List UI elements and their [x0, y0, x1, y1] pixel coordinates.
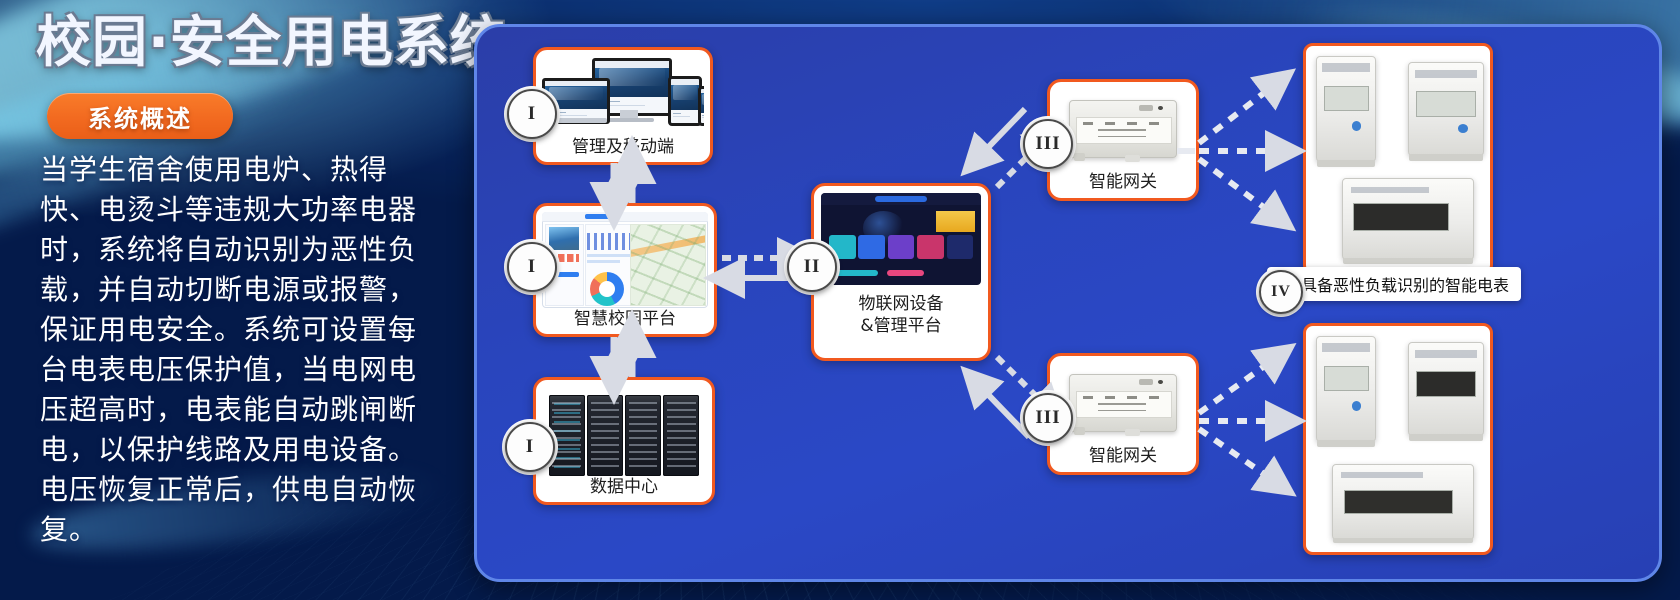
connector-admin-to-campus: [614, 163, 632, 203]
numeral-badge-admin-mobile: I: [507, 89, 557, 139]
architecture-diagram-panel: 管理及移动端 I 智慧校园平台 I: [474, 24, 1662, 582]
connector-gateway-bottom-to-meters: [1199, 357, 1283, 483]
numeral-badge-data-center: I: [505, 422, 555, 472]
connector-gateway-top-to-meters: [1199, 83, 1283, 217]
poster-canvas: 校园·安全用电系统 系统概述 当学生宿舍使用电炉、热得快、电烫斗等违规大功率电器…: [0, 0, 1680, 600]
section-badge-label: 系统概述: [88, 99, 192, 134]
meter-label-text: 具备恶性负载识别的智能电表: [1301, 272, 1509, 296]
numeral-badge-gateway-bottom: III: [1023, 393, 1073, 443]
numeral-badge-gateway-top: III: [1023, 119, 1073, 169]
numeral-badge-iot-platform: II: [787, 242, 837, 292]
numeral-badge-campus-platform: I: [507, 242, 557, 292]
overview-paragraph: 当学生宿舍使用电炉、热得快、电烫斗等违规大功率电器时，系统将自动识别为恶性负载，…: [40, 150, 430, 550]
section-badge: 系统概述: [47, 93, 233, 139]
intro-column: 校园·安全用电系统 系统概述 当学生宿舍使用电炉、热得快、电烫斗等违规大功率电器…: [0, 0, 470, 600]
meter-label-callout: 具备恶性负载识别的智能电表: [1267, 267, 1521, 301]
connector-campus-to-datacenter: [614, 337, 632, 377]
numeral-badge-meters: IV: [1259, 270, 1303, 314]
connector-campus-to-iot: [722, 258, 795, 278]
page-title: 校园·安全用电系统: [36, 14, 506, 72]
